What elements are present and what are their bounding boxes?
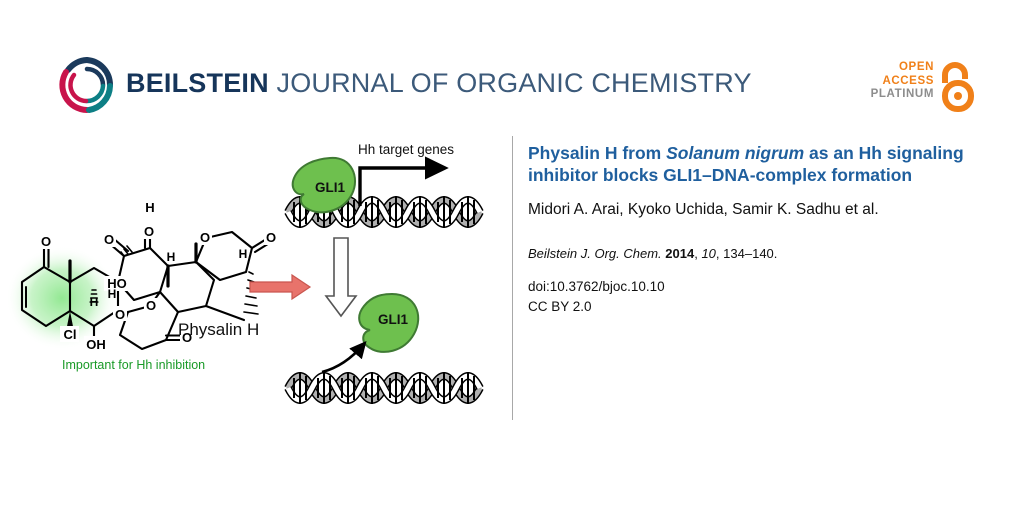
column-divider [512, 136, 513, 420]
curved-arrow-icon [322, 344, 364, 372]
article-citation: Beilstein J. Org. Chem. 2014, 10, 134–14… [528, 246, 980, 261]
citation-comma-1: , [694, 246, 698, 261]
graphical-abstract: O Cl OH HO H O O O O O O [0, 130, 512, 430]
article-title-species: Solanum nigrum [666, 143, 804, 163]
gli1-label-released: GLI1 [378, 312, 408, 327]
compound-label: Physalin H [178, 320, 259, 340]
journal-wordmark-bold: BEILSTEIN [126, 68, 269, 98]
atom-label-o-7: O [200, 230, 210, 245]
atom-label-h-3: H [167, 250, 176, 264]
atom-label-o-2: O [144, 224, 154, 239]
open-access-text: OPEN ACCESS PLATINUM [871, 61, 934, 102]
citation-volume: 10 [701, 246, 715, 261]
atom-label-h-2: H [145, 200, 154, 215]
article-title-part1: Physalin H from [528, 143, 666, 163]
atom-label-h-4: H [239, 247, 248, 261]
atom-label-h-5: H [108, 287, 117, 301]
dna-helix-free [288, 372, 480, 404]
page-header: BEILSTEIN JOURNAL OF ORGANIC CHEMISTRY O… [0, 0, 1024, 130]
open-padlock-icon [938, 58, 980, 112]
atom-label-o: O [41, 234, 51, 249]
transcription-label: Hh target genes [358, 142, 454, 157]
gli1-label-bound: GLI1 [315, 180, 345, 195]
article-metadata: Physalin H from Solanum nigrum as an Hh … [528, 142, 980, 318]
atom-label-o-3: O [104, 232, 114, 247]
down-hollow-arrow-icon [326, 238, 356, 316]
graphical-abstract-svg: O Cl OH HO H O O O O O O [0, 130, 512, 430]
citation-journal: Beilstein J. Org. Chem. [528, 246, 662, 261]
atom-label-oh: OH [86, 337, 106, 352]
open-access-line-open: OPEN [871, 61, 934, 75]
open-access-line-access: ACCESS [871, 75, 934, 89]
open-access-line-platinum: PLATINUM [871, 88, 934, 102]
atom-label-h-1: H [90, 295, 99, 309]
article-title: Physalin H from Solanum nigrum as an Hh … [528, 142, 980, 186]
atom-label-cl: Cl [64, 327, 77, 342]
citation-year: 2014 [665, 246, 694, 261]
article-doi[interactable]: doi:10.3762/bjoc.10.10 [528, 277, 980, 297]
highlight-caption: Important for Hh inhibition [62, 358, 205, 372]
right-arrow-icon [250, 275, 310, 299]
poster-canvas: BEILSTEIN JOURNAL OF ORGANIC CHEMISTRY O… [0, 0, 1024, 512]
atom-label-o-8: O [266, 230, 276, 245]
atom-label-o-5: O [115, 307, 125, 322]
article-license: CC BY 2.0 [528, 297, 980, 317]
article-authors: Midori A. Arai, Kyoko Uchida, Samir K. S… [528, 200, 980, 220]
journal-wordmark: BEILSTEIN JOURNAL OF ORGANIC CHEMISTRY [126, 68, 752, 99]
beilstein-swirl-logo-icon [58, 56, 116, 114]
journal-wordmark-rest: JOURNAL OF ORGANIC CHEMISTRY [269, 68, 752, 98]
citation-pages: 134–140. [723, 246, 777, 261]
citation-comma-2: , [716, 246, 720, 261]
atom-label-o-4: O [146, 298, 156, 313]
open-access-badge: OPEN ACCESS PLATINUM [862, 58, 980, 114]
